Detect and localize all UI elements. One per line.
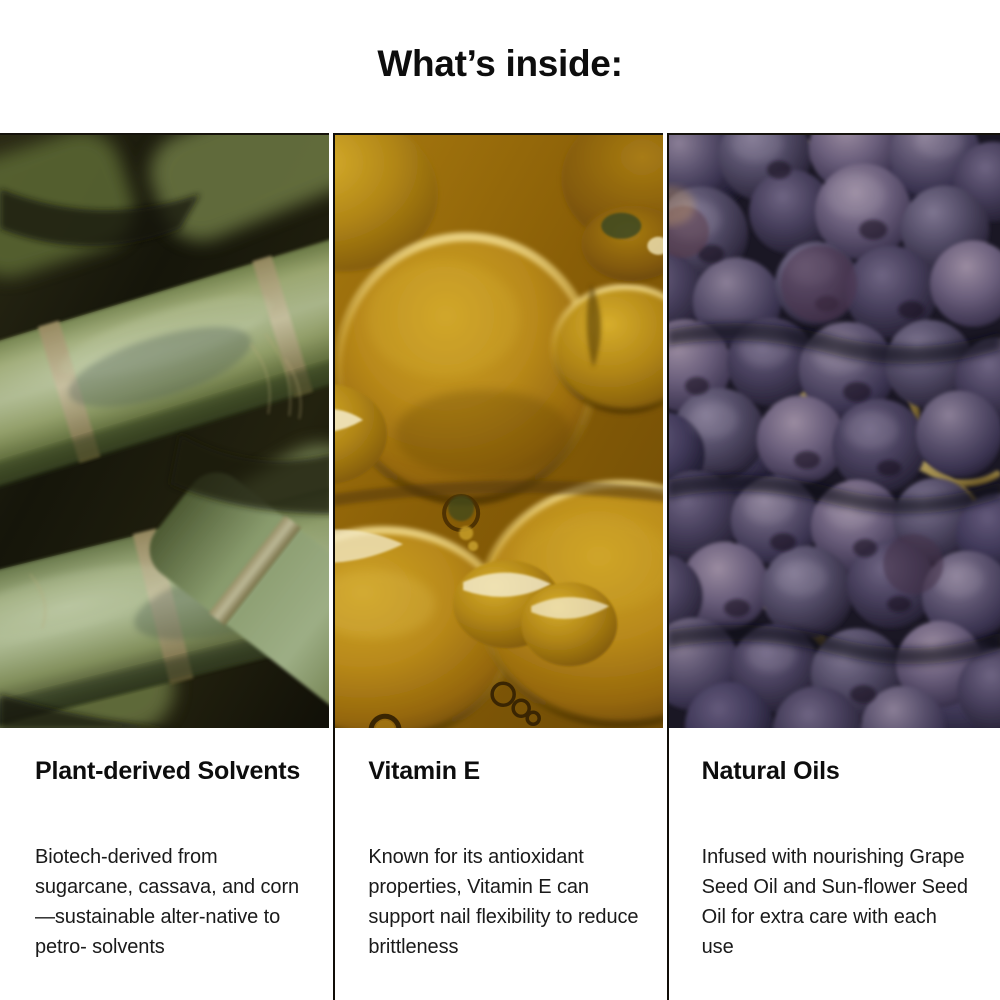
column-body: Biotech-derived from sugarcane, cassava,… [35, 816, 305, 962]
dark-grapes-photo [667, 133, 1000, 728]
page-title: What’s inside: [377, 45, 622, 88]
column-divider-1 [333, 133, 335, 1000]
column-heading: Plant-derived Solvents [35, 756, 305, 816]
column-body: Known for its antioxidant properties, Vi… [368, 816, 638, 962]
column-body: Infused with nourishing Grape Seed Oil a… [702, 816, 972, 962]
title-bar: What’s inside: [0, 0, 1000, 133]
text-block-plant-derived-solvents: Plant-derived Solvents Biotech-derived f… [0, 728, 333, 1000]
text-block-vitamin-e: Vitamin E Known for its antioxidant prop… [333, 728, 666, 1000]
ingredients-infographic: What’s inside: [0, 0, 1000, 1000]
text-block-natural-oils: Natural Oils Infused with nourishing Gra… [667, 728, 1000, 1000]
column-heading: Vitamin E [368, 756, 638, 816]
column-vitamin-e: Vitamin E Known for its antioxidant prop… [333, 133, 666, 1000]
column-divider-2 [667, 133, 669, 1000]
sugarcane-stalks-photo [0, 133, 333, 728]
columns-container: Plant-derived Solvents Biotech-derived f… [0, 133, 1000, 1000]
golden-oil-bubbles-photo [333, 133, 666, 728]
column-natural-oils: Natural Oils Infused with nourishing Gra… [667, 133, 1000, 1000]
column-plant-derived-solvents: Plant-derived Solvents Biotech-derived f… [0, 133, 333, 1000]
column-heading: Natural Oils [702, 756, 972, 816]
